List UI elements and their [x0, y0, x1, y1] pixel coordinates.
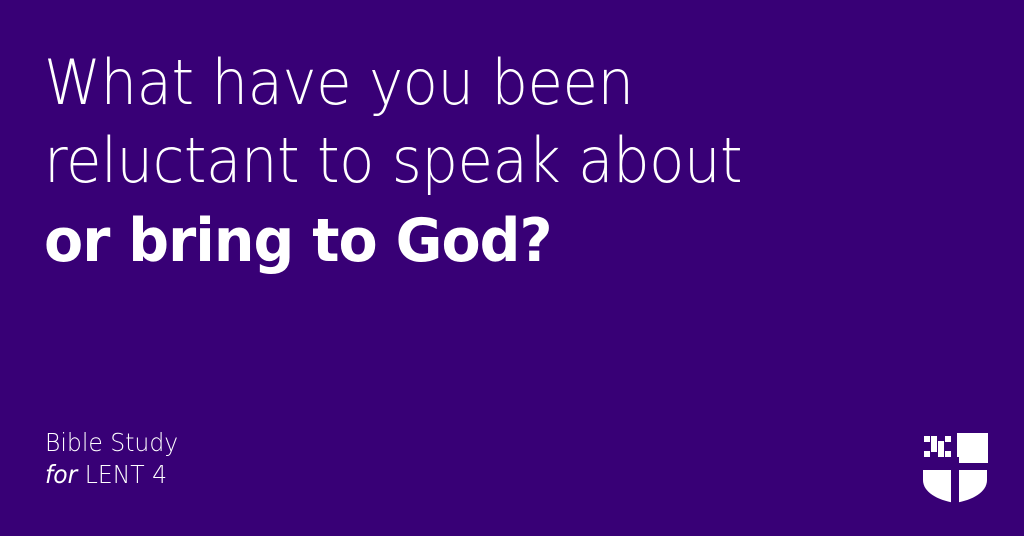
promo-card: What have you been reluctant to speak ab… — [0, 0, 1024, 536]
headline-line-1: What have you been — [44, 44, 751, 122]
caption-subtitle: for LENT 4 — [45, 459, 178, 491]
caption-block: Bible Study for LENT 4 — [45, 427, 187, 491]
shield-saltire — [924, 436, 951, 457]
episcopal-shield-logo — [921, 432, 989, 504]
headline-line-2: reluctant to speak about — [44, 122, 751, 200]
caption-title: Bible Study — [45, 427, 178, 459]
headline-line-3: or bring to God? — [44, 200, 766, 282]
shield-cross-vertical — [951, 457, 959, 503]
shield-icon — [921, 432, 989, 504]
headline-block: What have you been reluctant to speak ab… — [44, 44, 804, 282]
shield-cross-horizontal — [923, 465, 987, 470]
caption-season-label: LENT 4 — [85, 460, 167, 489]
caption-for-word: for — [45, 460, 77, 489]
shield-canton-square — [957, 433, 988, 463]
